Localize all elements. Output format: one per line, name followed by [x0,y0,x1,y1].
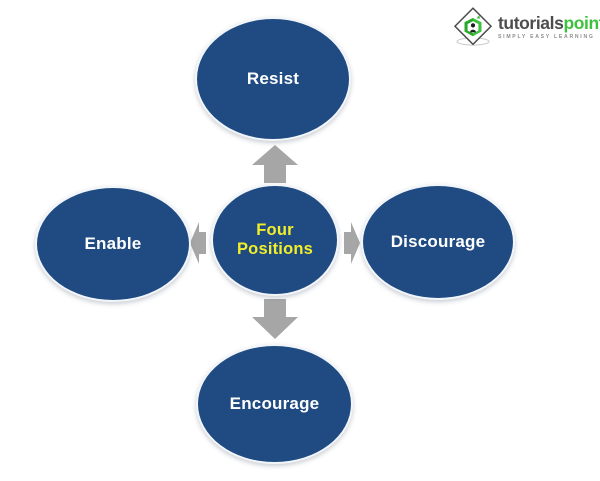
diagram-canvas: tutorialspoint SIMPLY EASY LEARNING Resi… [0,0,600,481]
arrow-left-icon [190,218,206,268]
logo-word: tutorialspoint [498,15,600,33]
node-resist-label: Resist [247,69,299,89]
node-center-four-positions[interactable]: FourPositions [211,184,339,296]
logo-word-point: point [563,13,600,33]
node-discourage[interactable]: Discourage [361,184,515,300]
logo-tagline: SIMPLY EASY LEARNING [498,35,600,40]
node-center-label: FourPositions [237,221,313,259]
node-enable-label: Enable [85,234,142,254]
arrow-down-icon [252,299,298,339]
tutorialspoint-logo: tutorialspoint SIMPLY EASY LEARNING [452,4,598,50]
arrow-right-icon [344,218,360,268]
tutorialspoint-diamond-icon [452,6,494,48]
node-encourage-label: Encourage [230,394,320,414]
node-resist[interactable]: Resist [195,17,351,141]
node-discourage-label: Discourage [391,232,486,252]
logo-wordmark: tutorialspoint SIMPLY EASY LEARNING [498,13,600,40]
node-center-label-line2: Positions [237,240,313,258]
node-enable[interactable]: Enable [35,186,191,302]
logo-word-tutorials: tutorials [498,13,563,33]
arrow-up-icon [252,145,298,183]
node-center-label-line1: Four [256,221,293,239]
node-encourage[interactable]: Encourage [196,344,353,464]
